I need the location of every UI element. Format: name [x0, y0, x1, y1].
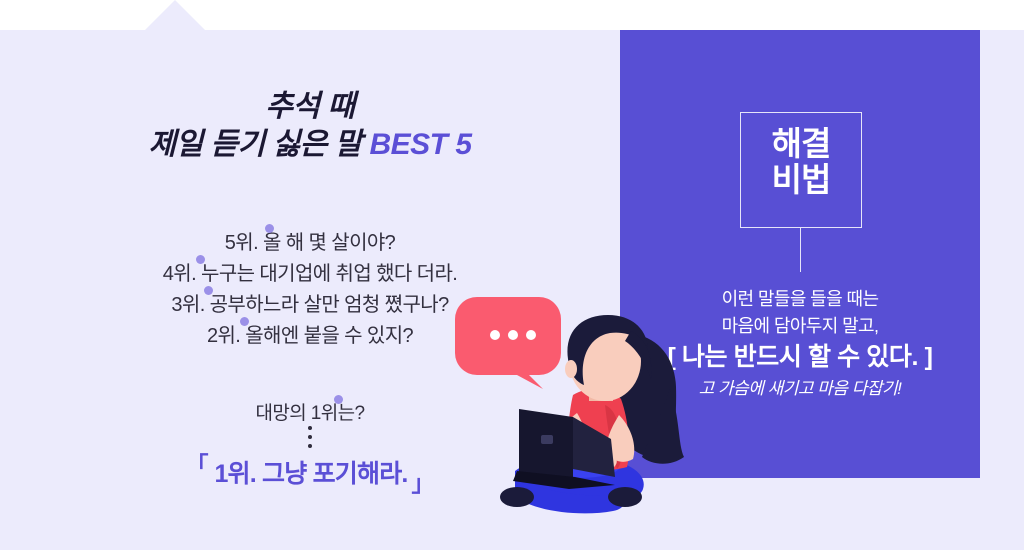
bracket-open-icon: 「	[185, 446, 208, 480]
answer-text: 1위. 그냥 포기해라.	[214, 454, 407, 490]
bullet-dot-icon	[240, 317, 249, 326]
rank-item-inner: 5위. 올 해 몇 살이야?	[225, 228, 395, 259]
grand-question-label: 대망의 1위는?	[255, 403, 364, 424]
bullet-dot-icon	[196, 255, 205, 264]
title-main-text: 제일 듣기 싫은 말	[148, 128, 369, 161]
title-accent-text: BEST 5	[370, 128, 472, 161]
badge-connector-line	[800, 228, 801, 272]
rank-item-inner: 2위. 올해엔 붙을 수 있지?	[207, 321, 413, 352]
title-line-2: 제일 듣기 싫은 말 BEST 5	[0, 126, 620, 164]
title-line-1: 추석 때	[0, 88, 620, 126]
bullet-dot-icon	[265, 224, 274, 233]
page-title: 추석 때 제일 듣기 싫은 말 BEST 5	[0, 88, 620, 165]
badge-line-1: 해결	[741, 126, 861, 162]
top-notch-triangle	[145, 0, 205, 30]
rank-item-inner: 3위. 공부하느라 살만 엄청 쪘구나?	[171, 290, 448, 321]
rank-label: 3위. 공부하느라 살만 엄청 쪘구나?	[171, 294, 448, 316]
ellipsis-dot	[308, 435, 312, 439]
woman-with-laptop-illustration	[455, 285, 725, 530]
rank-label: 5위. 올 해 몇 살이야?	[225, 232, 395, 254]
grand-question-inner: 대망의 1위는?	[255, 398, 364, 425]
list-item: 5위. 올 해 몇 살이야?	[0, 228, 620, 259]
solution-badge-box: 해결 비법	[740, 112, 862, 228]
solution-badge-label: 해결 비법	[741, 126, 861, 197]
ellipsis-dot	[308, 444, 312, 448]
rank-label: 4위. 누구는 대기업에 취업 했다 더라.	[163, 263, 457, 285]
rank-label: 2위. 올해엔 붙을 수 있지?	[207, 325, 413, 347]
infographic-canvas: 추석 때 제일 듣기 싫은 말 BEST 5 5위. 올 해 몇 살이야? 4위…	[0, 0, 1024, 550]
ellipsis-dot	[308, 426, 312, 430]
badge-line-2: 비법	[741, 162, 861, 198]
speech-bubble-icon	[455, 297, 561, 389]
bracket-close-icon: 」	[412, 464, 435, 498]
